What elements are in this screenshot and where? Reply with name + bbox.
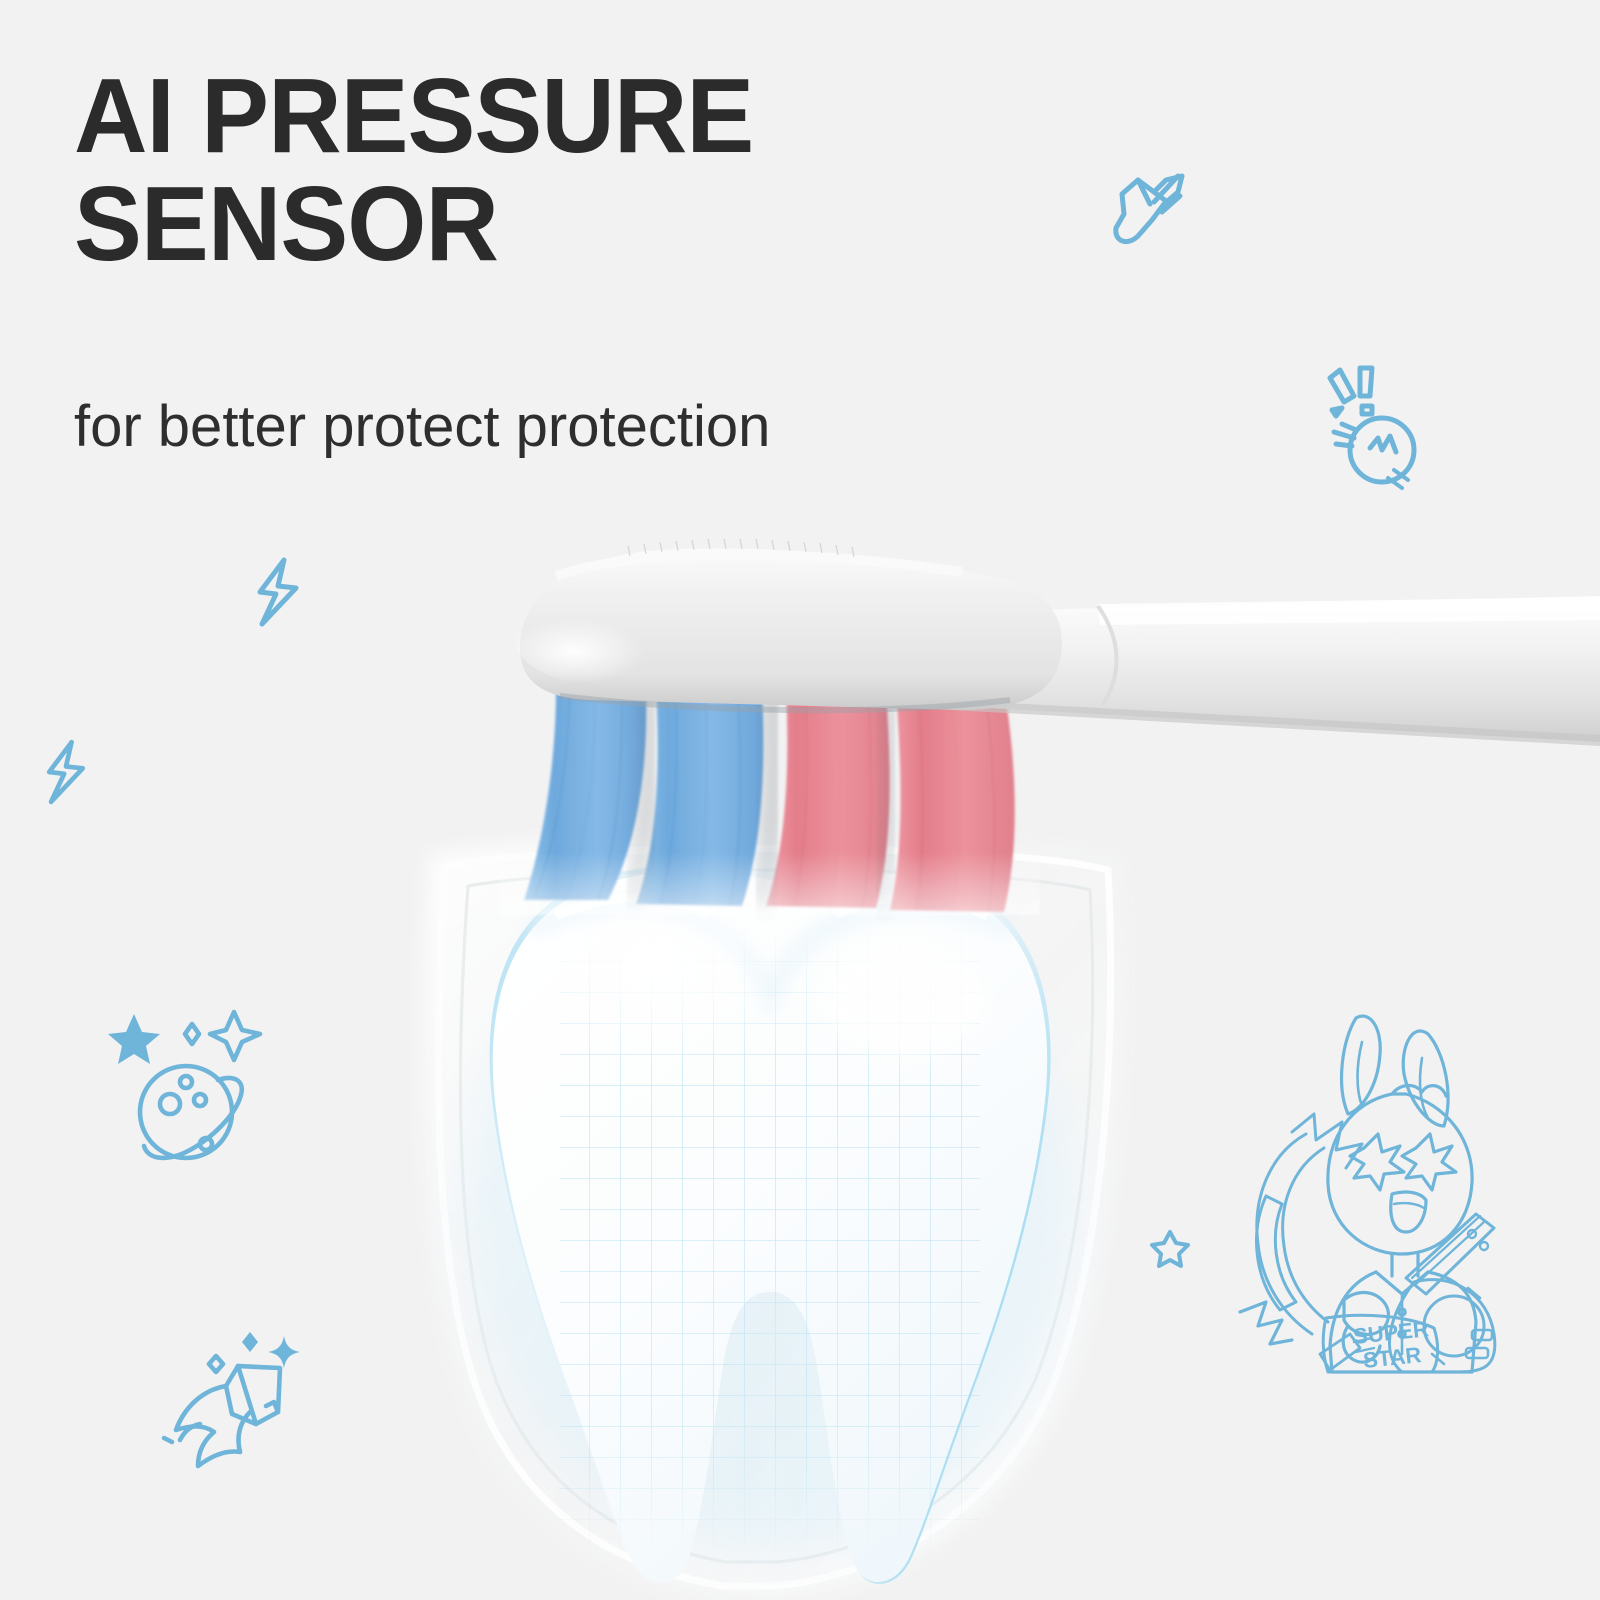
page-title: AI PRESSURE SENSOR	[74, 62, 1074, 278]
poster-canvas: AI PRESSURE SENSOR for better protect pr…	[0, 0, 1600, 1600]
subtitle: for better protect protection	[74, 392, 770, 462]
title-line-2: SENSOR	[74, 170, 1034, 278]
bristle-field	[500, 690, 1040, 915]
title-line-1: AI PRESSURE	[74, 62, 1034, 170]
tooth	[490, 865, 1051, 1584]
